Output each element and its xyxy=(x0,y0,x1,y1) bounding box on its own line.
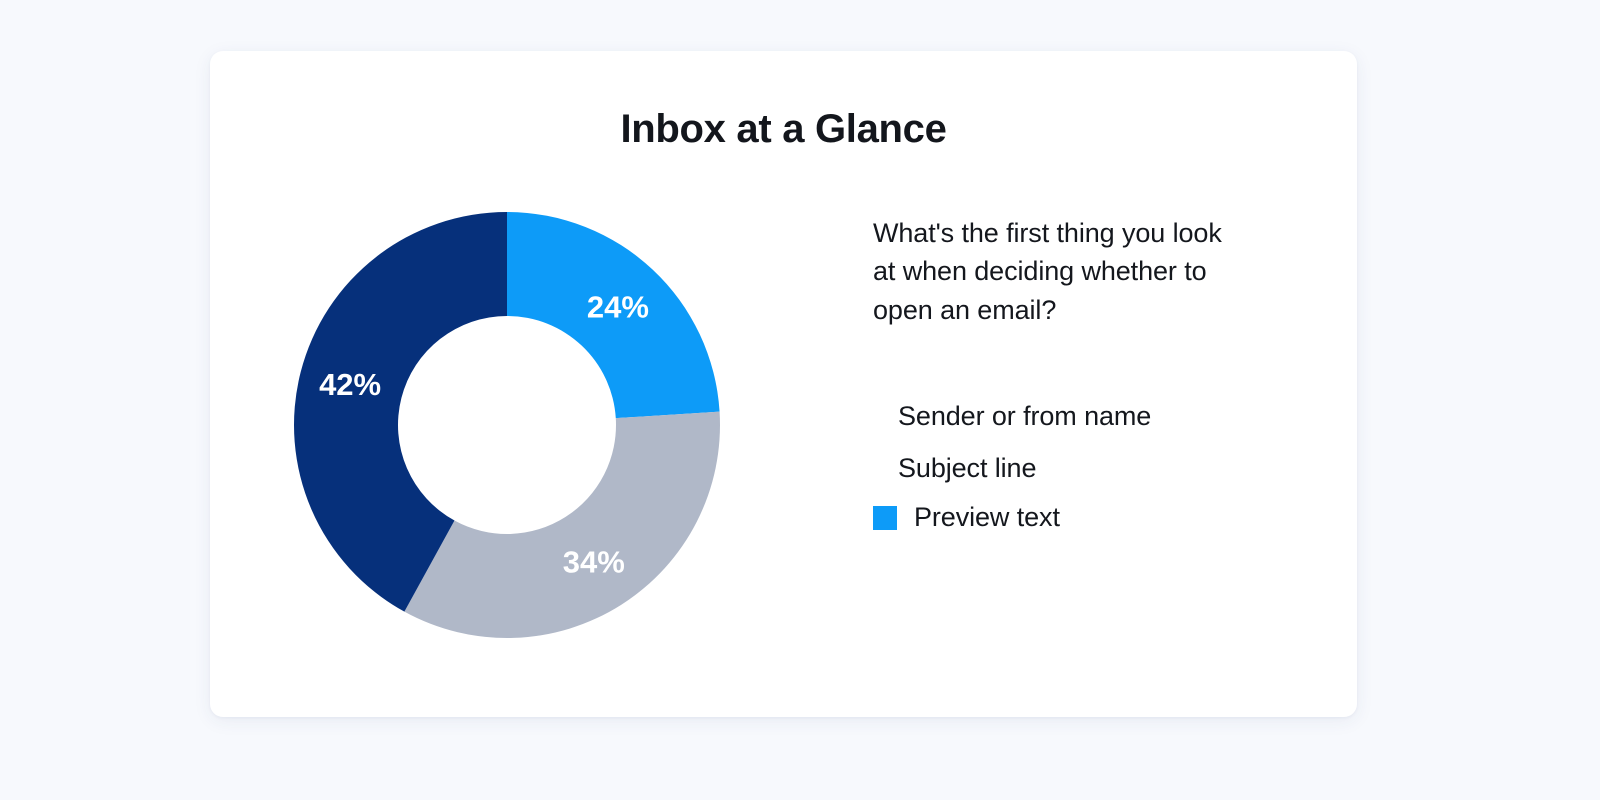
legend-item-subject-line[interactable]: Subject line xyxy=(873,443,1293,495)
chart-legend: Sender or from name Subject line Preview… xyxy=(873,391,1293,541)
page-title: Inbox at a Glance xyxy=(210,107,1357,152)
slice-label-preview-text: 24% xyxy=(587,289,649,324)
donut-chart-svg: 24% 34% 42% xyxy=(292,210,722,640)
legend-item-sender-name[interactable]: Sender or from name xyxy=(873,391,1293,443)
legend-label-preview-text: Preview text xyxy=(914,502,1060,533)
slice-label-subject-line: 34% xyxy=(563,544,625,579)
legend-swatch-icon xyxy=(873,506,897,530)
survey-question: What's the first thing you look at when … xyxy=(873,214,1233,329)
page-root: Inbox at a Glance 24% 34% 42% What's the… xyxy=(0,0,1600,800)
donut-chart: 24% 34% 42% xyxy=(292,210,722,640)
donut-slices xyxy=(294,212,720,638)
legend-item-preview-text[interactable]: Preview text xyxy=(873,495,1293,541)
slice-label-sender-name: 42% xyxy=(319,367,381,402)
chart-info-column: What's the first thing you look at when … xyxy=(873,214,1293,541)
chart-card: Inbox at a Glance 24% 34% 42% What's the… xyxy=(210,51,1357,717)
legend-label-subject-line: Subject line xyxy=(898,453,1036,484)
legend-label-sender-name: Sender or from name xyxy=(898,401,1151,432)
